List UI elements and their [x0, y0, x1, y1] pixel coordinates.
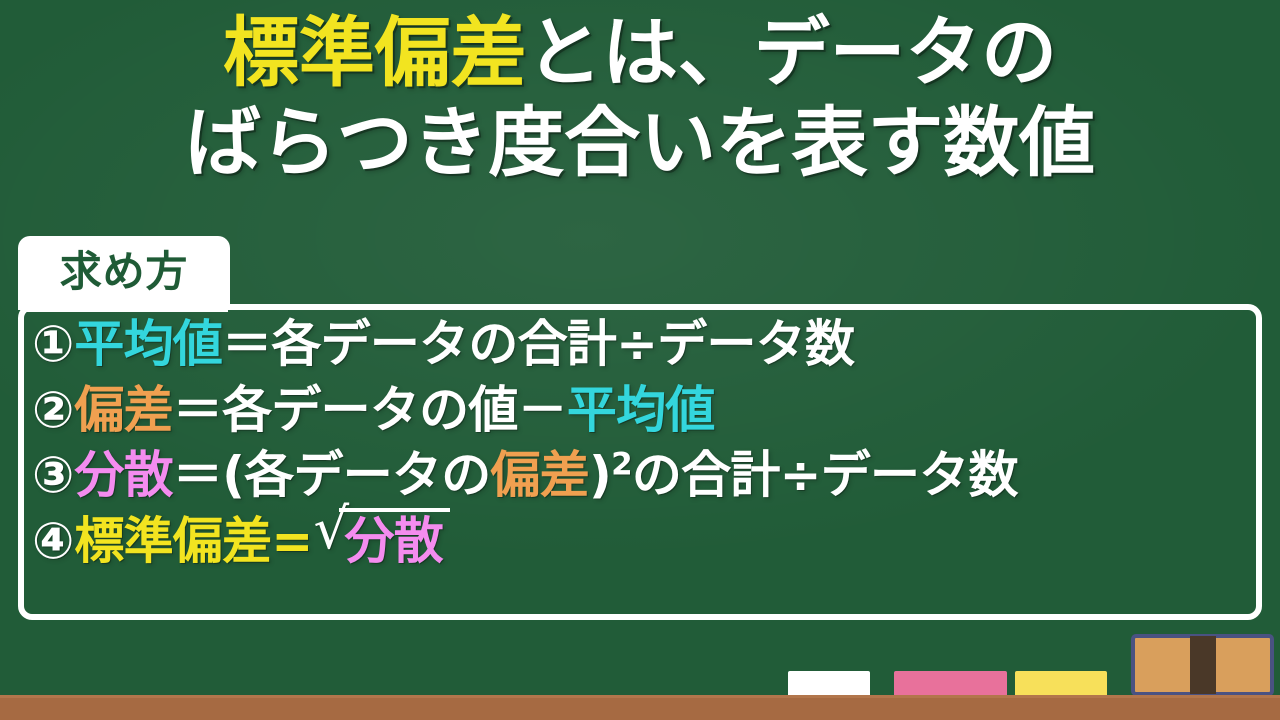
- method-tab: 求め方: [18, 236, 230, 310]
- step-number-4: ④: [32, 509, 74, 575]
- term-deviation-2: 偏差: [74, 381, 173, 439]
- formula-body-3c: の合計÷データ数: [632, 446, 1018, 504]
- term-average-1: 平均値: [74, 315, 222, 373]
- step-number-2: ②: [32, 378, 74, 444]
- term-standard-deviation-4: 標準偏差: [74, 512, 271, 570]
- title-line-1: 標準偏差とは、データの: [0, 8, 1280, 92]
- superscript-two-3: 2: [611, 446, 632, 482]
- chalk-stick-pink[interactable]: [894, 671, 1007, 698]
- radical-icon: √: [314, 511, 345, 561]
- chalk-ledge: [0, 695, 1280, 720]
- chalk-stick-white[interactable]: [788, 671, 870, 698]
- term-variance-4: 分散: [345, 512, 444, 570]
- radical-bar: [339, 508, 450, 512]
- formula-body-3b: ): [589, 446, 611, 504]
- formula-row-3: ③分散＝(各データの偏差)2の合計÷データ数: [32, 443, 1250, 509]
- equals-3: ＝: [173, 446, 222, 504]
- step-number-3: ③: [32, 443, 74, 509]
- equals-4: =: [271, 512, 312, 570]
- formula-body-1: 各データの合計÷データ数: [271, 315, 854, 373]
- method-tab-label: 求め方: [60, 251, 189, 296]
- equals-1: ＝: [222, 315, 271, 373]
- chalk-stick-yellow[interactable]: [1015, 671, 1107, 698]
- formula-row-1: ①平均値＝各データの合計÷データ数: [32, 312, 1250, 378]
- term-variance-3: 分散: [74, 446, 173, 504]
- term-average-2: 平均値: [567, 381, 715, 439]
- title-line-1-rest: とは、データの: [526, 8, 1057, 97]
- chalk-ledge-highlight: [0, 695, 1280, 698]
- step-number-1: ①: [32, 312, 74, 378]
- formula-list: ①平均値＝各データの合計÷データ数 ②偏差＝各データの値－平均値 ③分散＝(各デ…: [32, 312, 1250, 574]
- term-deviation-3: 偏差: [490, 446, 589, 504]
- slide-root: 標準偏差とは、データの ばらつき度合いを表す数値 求め方 ①平均値＝各データの合…: [0, 0, 1280, 720]
- formula-row-4: ④標準偏差=√分散: [32, 509, 1250, 575]
- title-keyword-standard-deviation: 標準偏差: [223, 8, 526, 97]
- title-line-2: ばらつき度合いを表す数値: [0, 92, 1280, 182]
- formula-body-3a: (各データの: [222, 446, 490, 504]
- blackboard-eraser[interactable]: [1131, 634, 1274, 696]
- method-panel: 求め方 ①平均値＝各データの合計÷データ数 ②偏差＝各データの値－平均値 ③分散…: [18, 236, 1262, 620]
- formula-body-2: 各データの値－: [222, 381, 567, 439]
- formula-row-2: ②偏差＝各データの値－平均値: [32, 378, 1250, 444]
- slide-title: 標準偏差とは、データの ばらつき度合いを表す数値: [0, 8, 1280, 181]
- equals-2: ＝: [173, 381, 222, 439]
